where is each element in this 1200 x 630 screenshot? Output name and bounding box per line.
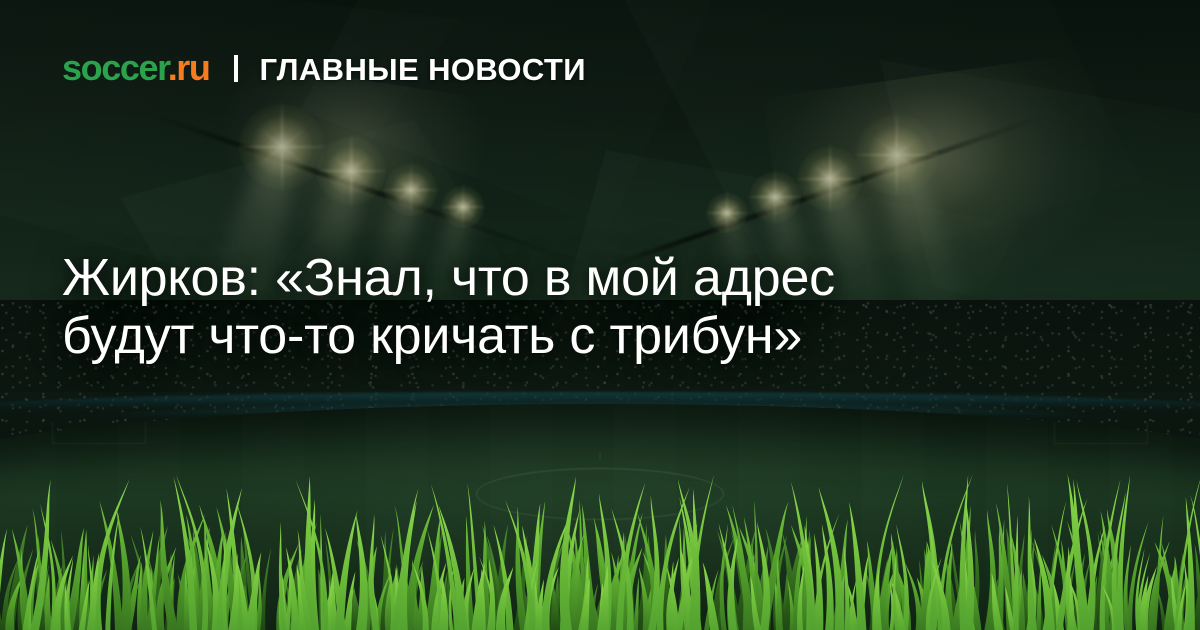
banner-header: soccer.ru ГЛАВНЫЕ НОВОСТИ — [62, 50, 586, 86]
headline-line-2: будут что-то кричать с трибун» — [62, 307, 1012, 365]
site-logo[interactable]: soccer.ru — [62, 50, 210, 86]
news-banner: soccer.ru ГЛАВНЫЕ НОВОСТИ Жирков: «Знал,… — [0, 0, 1200, 630]
header-separator — [234, 55, 238, 82]
logo-word: soccer — [62, 47, 168, 88]
pitch-vignette — [0, 404, 1200, 630]
section-kicker: ГЛАВНЫЕ НОВОСТИ — [260, 54, 586, 85]
headline-line-1: Жирков: «Знал, что в мой адрес — [62, 249, 1012, 307]
football-pitch — [0, 404, 1200, 630]
headline: Жирков: «Знал, что в мой адрес будут что… — [62, 249, 1012, 365]
logo-tld: .ru — [168, 47, 210, 88]
